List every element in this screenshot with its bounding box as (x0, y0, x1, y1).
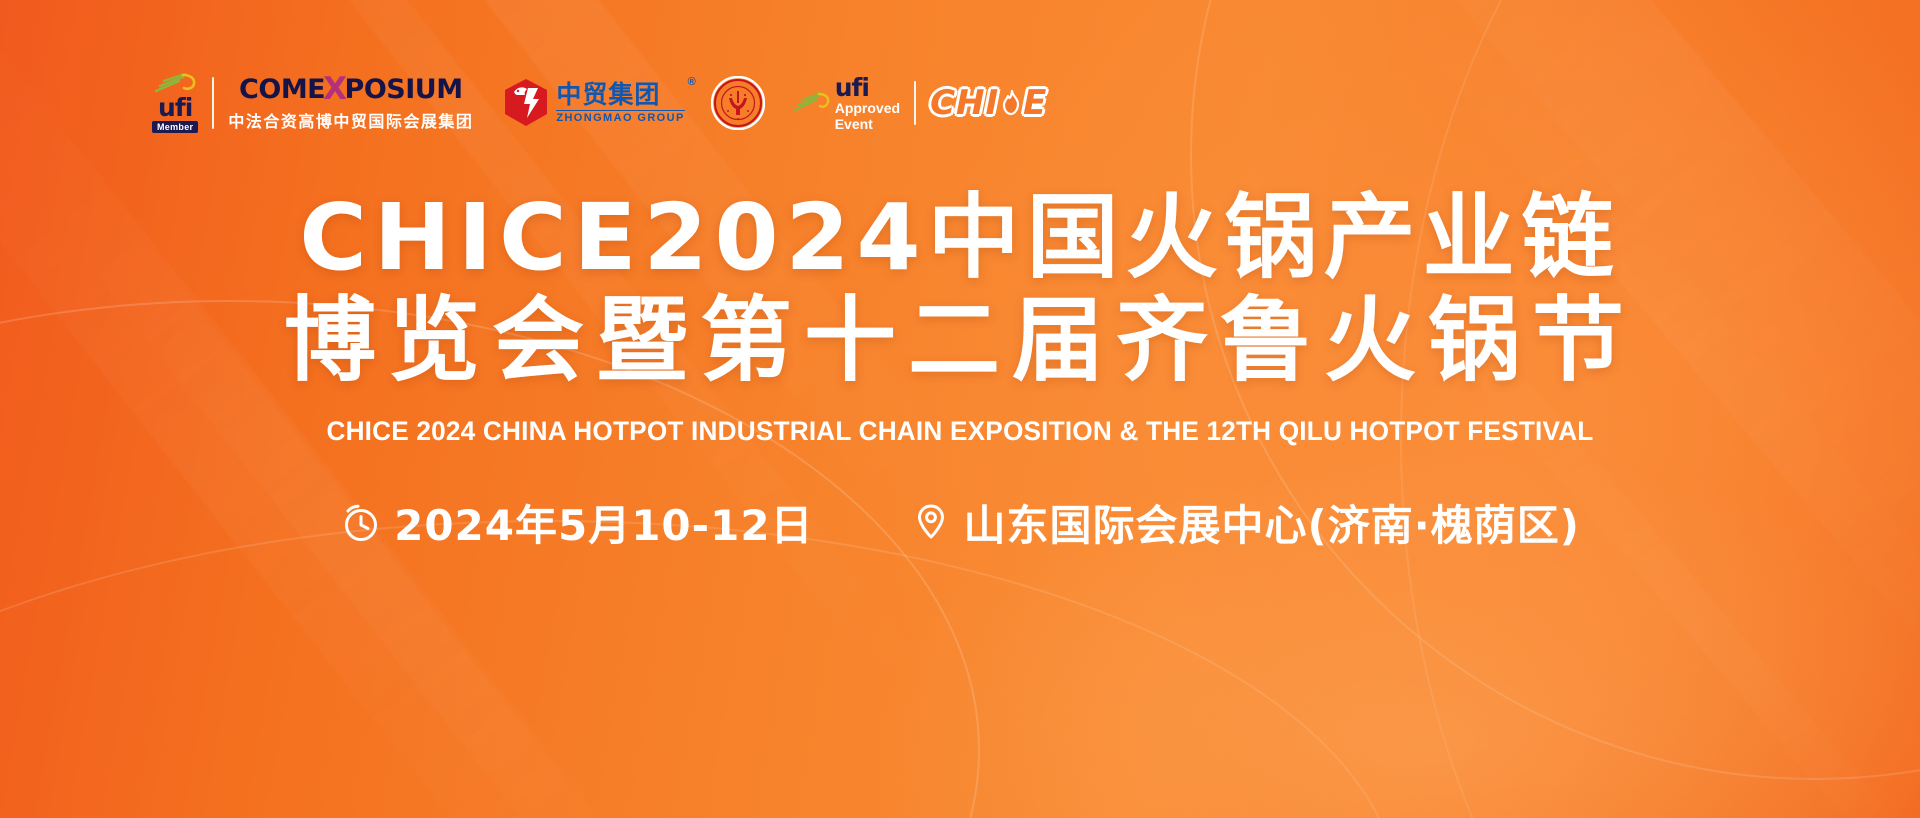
subtitle-english: CHICE 2024 CHINA HOTPOT INDUSTRIAL CHAIN… (29, 416, 1891, 447)
chice-text-before: CHI (930, 83, 999, 123)
sponsor-logo-strip: ufi Member COME X POSIUM 中法合资高博中贸国际会展集团 … (152, 70, 1047, 136)
logo-ufi-member: ufi Member (152, 73, 198, 133)
zhongmao-chinese-name: 中贸集团 (556, 82, 660, 108)
registered-mark: ® (688, 76, 696, 88)
main-title-block: CHICE2024中国火锅产业链 博览会暨第十二届齐鲁火锅节 (0, 186, 1920, 392)
ufi-approved-text: ufi Approved Event (835, 75, 900, 131)
ufi-member-badge: Member (152, 121, 198, 133)
ufi-wordmark: ufi (835, 75, 869, 100)
title-line-2: 博览会暨第十二届齐鲁火锅节 (0, 289, 1920, 392)
chice-text-after: E (1023, 83, 1047, 123)
ufi-wing-icon (793, 91, 831, 115)
logo-divider (212, 77, 214, 129)
logo-zhongmao: 中贸集团 ZHONGMAO GROUP ® (503, 78, 684, 128)
event-date-item: 2024年5月10-12日 (340, 492, 813, 553)
ufi-wing-icon (153, 73, 197, 95)
curve-line (1400, 0, 1920, 818)
comexposium-wordmark: COME X POSIUM (239, 74, 463, 105)
event-date-text: 2024年5月10-12日 (394, 492, 813, 553)
event-info-row: 2024年5月10-12日 山东国际会展中心(济南·槐荫区) (0, 492, 1920, 553)
curve-line (0, 520, 1400, 818)
clock-icon (340, 502, 382, 544)
logo-divider (914, 81, 916, 125)
location-pin-icon (910, 502, 952, 544)
ufi-approved-line1: Approved (835, 101, 900, 115)
comexposium-part2: POSIUM (345, 76, 463, 103)
logo-chice: CHI E (930, 83, 1047, 123)
title-line-1: CHICE2024中国火锅产业链 (0, 186, 1920, 289)
comexposium-x: X (323, 74, 346, 105)
comexposium-chinese-name: 中法合资高博中贸国际会展集团 (228, 108, 473, 132)
flame-icon (1000, 90, 1022, 116)
ufi-approved-line2: Event (835, 117, 873, 131)
event-venue-item: 山东国际会展中心(济南·槐荫区) (910, 492, 1580, 553)
logo-ufi-approved-event: ufi Approved Event (793, 75, 900, 131)
zhongmao-horse-icon (503, 78, 549, 128)
promo-banner: ufi Member COME X POSIUM 中法合资高博中贸国际会展集团 … (0, 0, 1920, 818)
association-seal-icon (711, 76, 765, 130)
zhongmao-text: 中贸集团 ZHONGMAO GROUP ® (556, 82, 684, 123)
event-venue-text: 山东国际会展中心(济南·槐荫区) (964, 492, 1580, 553)
logo-comexposium: COME X POSIUM 中法合资高博中贸国际会展集团 (228, 74, 473, 132)
zhongmao-english-name: ZHONGMAO GROUP (556, 110, 684, 124)
ufi-wordmark: ufi (158, 96, 192, 120)
comexposium-part1: COME (239, 76, 325, 103)
